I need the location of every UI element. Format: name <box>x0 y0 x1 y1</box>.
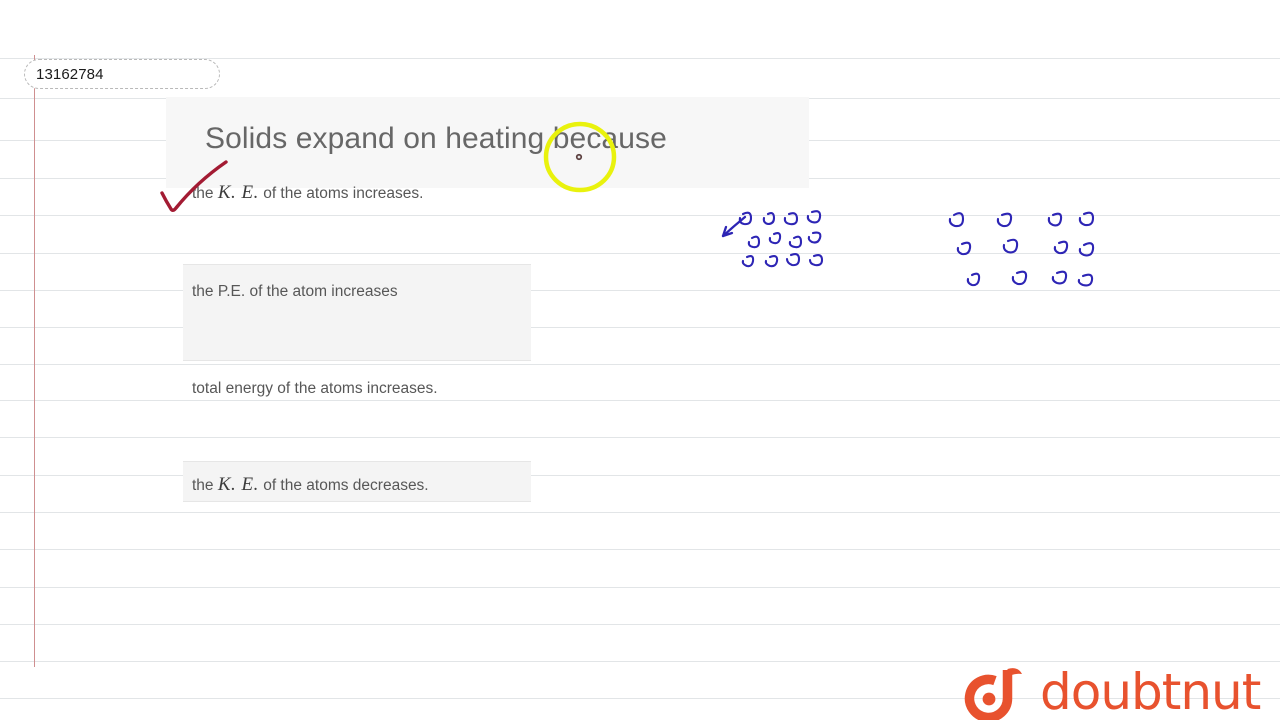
rule-line-4 <box>0 215 1280 216</box>
option-item-1[interactable]: the K. E. of the atoms increases. <box>183 181 531 201</box>
option-4-math: K. E. <box>218 474 259 495</box>
option-divider-c <box>183 461 531 462</box>
option-4-prefix: the <box>192 477 218 494</box>
rule-line-13 <box>0 549 1280 550</box>
option-divider-b <box>183 360 531 361</box>
rule-line-8 <box>0 364 1280 365</box>
compact-atom-cluster-icon <box>712 205 837 275</box>
option-divider-d <box>183 501 531 502</box>
option-item-2[interactable]: the P.E. of the atom increases <box>183 279 531 299</box>
option-3-prefix: total energy of the atoms increases. <box>192 380 438 397</box>
rule-line-16 <box>0 661 1280 662</box>
doubtnut-logo: doubtnut <box>962 664 1260 720</box>
option-4-label: the K. E. of the atoms decreases. <box>192 475 429 494</box>
page-title: Solids expand on heating because <box>205 120 805 158</box>
paper-margin-line <box>34 55 35 667</box>
option-3-label: total energy of the atoms increases. <box>192 378 438 397</box>
expanded-atom-cluster-icon <box>940 203 1105 295</box>
question-id-badge: 13162784 <box>24 59 220 89</box>
rule-line-12 <box>0 512 1280 513</box>
rule-line-15 <box>0 624 1280 625</box>
doubtnut-wordmark: doubtnut <box>1040 667 1260 717</box>
option-4-suffix: of the atoms decreases. <box>259 477 429 494</box>
rule-line-5 <box>0 253 1280 254</box>
question-id-text: 13162784 <box>36 66 104 83</box>
option-item-3[interactable]: total energy of the atoms increases. <box>183 376 531 396</box>
rule-line-10 <box>0 437 1280 438</box>
option-divider-a <box>183 264 531 265</box>
rule-line-9 <box>0 400 1280 401</box>
option-1-prefix: the <box>192 185 218 202</box>
option-2-label: the P.E. of the atom increases <box>192 281 398 300</box>
notebook-page: 13162784 Solids expand on heating becaus… <box>0 0 1280 720</box>
option-1-suffix: of the atoms increases. <box>259 185 424 202</box>
option-1-math: K. E. <box>218 182 259 203</box>
option-item-4[interactable]: the K. E. of the atoms decreases. <box>183 473 531 493</box>
option-1-label: the K. E. of the atoms increases. <box>192 183 423 202</box>
doubtnut-d-mark-icon <box>962 664 1036 720</box>
option-2-prefix: the P.E. of the atom increases <box>192 283 398 300</box>
rule-line-14 <box>0 587 1280 588</box>
